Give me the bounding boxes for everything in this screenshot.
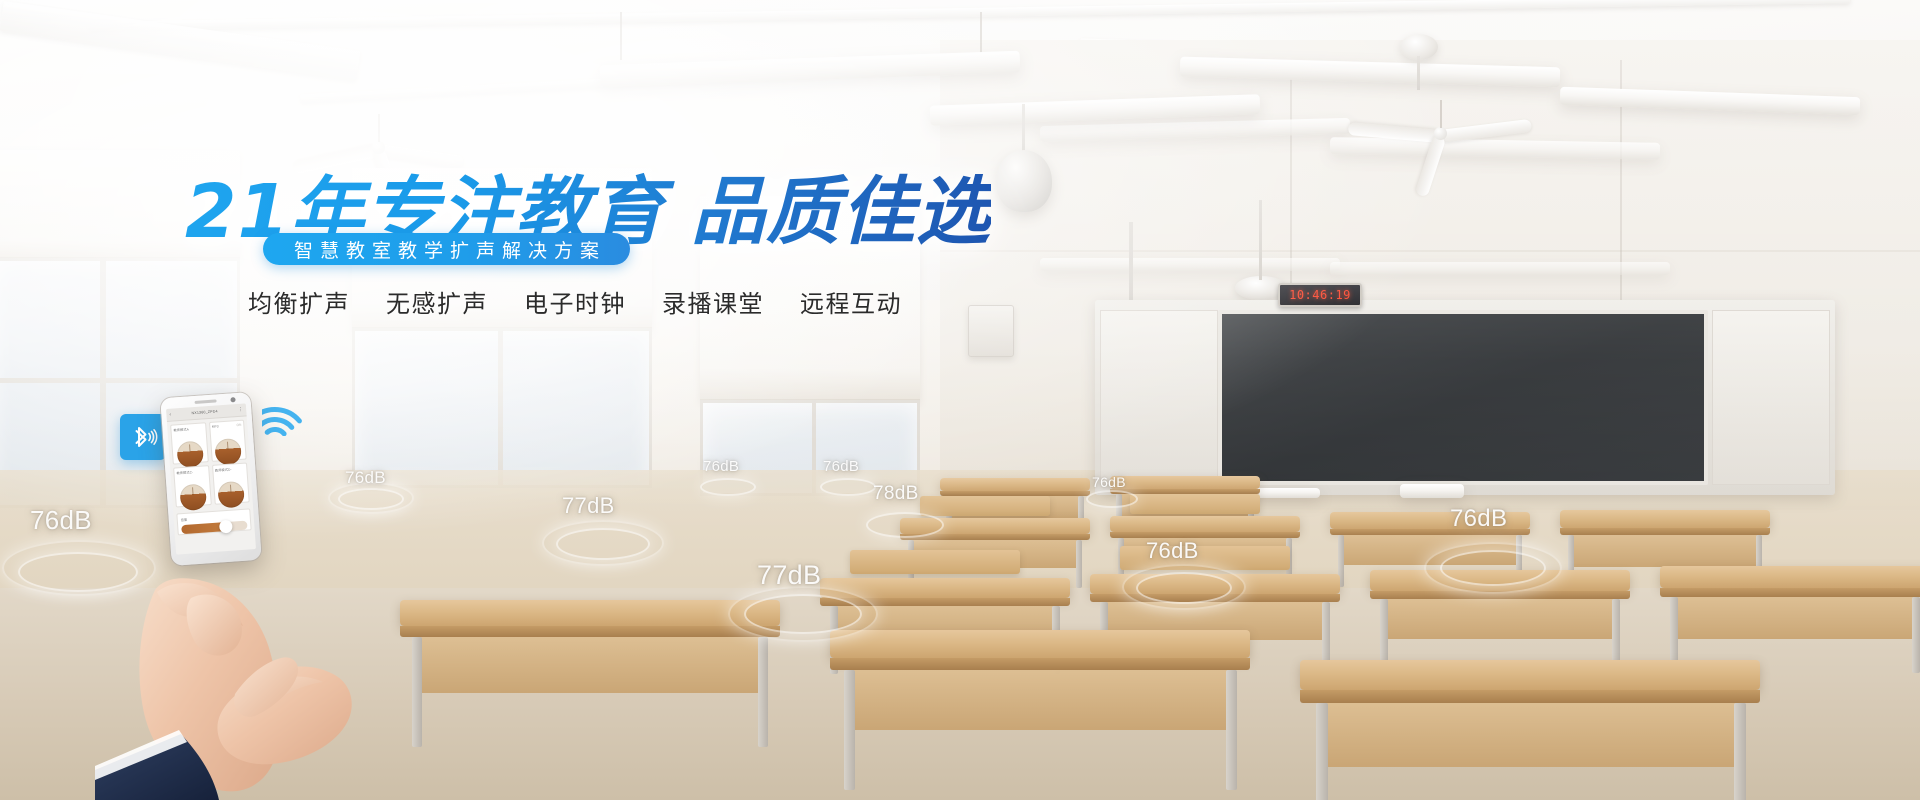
wall-seam <box>1290 60 1292 310</box>
wall-panel <box>1330 262 1670 275</box>
desk-top <box>1110 516 1300 532</box>
chair-back <box>1130 494 1260 514</box>
desk-edge <box>1560 528 1770 535</box>
db-label: 78dB <box>873 483 919 505</box>
db-label: 76dB <box>30 505 92 536</box>
fan-blade <box>1348 122 1441 143</box>
db-label: 76dB <box>345 468 386 488</box>
app-mode-card[interactable]: 教师模式D- <box>212 462 250 504</box>
subtitle-pill-label: 智慧教室教学扩声解决方案 <box>287 236 606 263</box>
desk-leg <box>844 670 855 790</box>
wireless-signal-icon <box>262 386 320 436</box>
desk-leg <box>1734 703 1746 800</box>
speaker-rod <box>1022 104 1025 156</box>
wall-panel <box>1040 258 1340 271</box>
sound-ripple <box>820 478 876 496</box>
control-panel <box>1400 484 1464 498</box>
bluetooth-badge[interactable] <box>120 414 166 460</box>
sound-ripple <box>542 520 664 566</box>
desk-leg <box>1912 597 1920 673</box>
app-mode-status: ON <box>236 423 241 427</box>
app-mode-label: 教师模式C- <box>176 468 206 475</box>
feature-item: 电子时钟 <box>524 284 626 319</box>
volume-knob[interactable] <box>218 481 246 509</box>
speaker-rod <box>1417 56 1420 90</box>
desk-top <box>830 630 1250 658</box>
sound-ripple <box>700 478 756 496</box>
desk-top <box>400 600 780 626</box>
sound-ripple <box>1122 564 1246 610</box>
chair-back <box>920 496 1050 516</box>
volume-knob[interactable] <box>176 441 204 469</box>
app-mode-card[interactable]: MP3ON <box>209 420 247 462</box>
db-label: 76dB <box>1450 505 1507 533</box>
desk-top <box>940 478 1090 491</box>
feature-item: 均衡扩声 <box>248 284 350 319</box>
smartphone[interactable]: ‹ NX1360_ZPD4 ⋮ 教师模式AMP3ON教师模式C-教师模式D- 音… <box>160 392 261 566</box>
desk-top <box>1110 476 1260 489</box>
pendant-wire <box>980 12 982 54</box>
ceiling-speaker <box>996 150 1052 212</box>
headline-second: 品质佳选 <box>691 170 991 253</box>
desk-top <box>1660 566 1920 588</box>
desk-panel <box>1384 599 1616 639</box>
db-label: 76dB <box>823 458 859 475</box>
volume-slider-track[interactable] <box>181 521 247 535</box>
sound-ripple <box>2 540 156 596</box>
db-label: 76dB <box>1092 474 1126 490</box>
window-mullion <box>498 328 503 488</box>
app-mode-label: 教师模式A <box>173 425 203 432</box>
fan-rod <box>1440 100 1442 128</box>
sound-ripple <box>728 586 878 642</box>
speaker-rod <box>1259 200 1262 280</box>
fan-rod <box>378 114 380 142</box>
app-card-grid: 教师模式AMP3ON教师模式C-教师模式D- <box>167 416 253 510</box>
wall-seam <box>940 250 1920 252</box>
desk-edge <box>830 658 1250 670</box>
blackboard-surface <box>1218 310 1708 485</box>
wall-control-box <box>968 305 1014 357</box>
feature-item: 无感扩声 <box>386 284 488 319</box>
phone-screen[interactable]: ‹ NX1360_ZPD4 ⋮ 教师模式AMP3ON教师模式C-教师模式D- 音… <box>166 403 256 554</box>
desk-panel <box>1674 597 1916 639</box>
phone-earpiece <box>195 399 217 404</box>
sound-ripple <box>866 512 944 538</box>
fan-hub <box>1434 127 1447 140</box>
app-mode-card[interactable]: 教师模式C- <box>173 465 211 507</box>
feature-list: 均衡扩声无感扩声电子时钟录播课堂远程互动 <box>248 284 902 319</box>
chair-back <box>850 550 1020 574</box>
blackboard-wing-right <box>1712 310 1830 485</box>
more-vertical-icon[interactable]: ⋮ <box>238 407 243 412</box>
bluetooth-icon <box>128 422 158 452</box>
db-label: 77dB <box>562 493 615 519</box>
desk-top <box>1560 510 1770 528</box>
desk-panel <box>850 670 1230 730</box>
feature-item: 远程互动 <box>800 284 902 319</box>
desk-leg <box>1076 540 1082 588</box>
db-label: 77dB <box>757 560 821 591</box>
desk-panel <box>418 637 762 693</box>
db-label: 76dB <box>1146 538 1199 564</box>
blackboard-wing-left <box>1100 310 1218 485</box>
app-mode-card[interactable]: 教师模式A <box>170 422 208 464</box>
desk-top <box>1300 660 1760 690</box>
sound-ripple <box>1424 542 1562 594</box>
sound-ripple <box>1086 490 1138 508</box>
volume-slider-card[interactable]: 音量 <box>176 508 251 535</box>
desk-edge <box>1660 588 1920 597</box>
pendant-wire <box>620 12 622 60</box>
digital-clock: 10:46:19 <box>1278 283 1362 307</box>
hero-banner: 10:46:19 <box>0 0 1920 800</box>
db-label: 76dB <box>703 458 739 475</box>
subtitle-pill: 智慧教室教学扩声解决方案 <box>263 233 630 265</box>
app-title: NX1360_ZPD4 <box>191 409 218 415</box>
desk-panel <box>1322 703 1738 767</box>
desk-leg <box>758 637 768 747</box>
volume-knob[interactable] <box>215 438 243 466</box>
volume-knob[interactable] <box>179 483 207 511</box>
app-mode-label: 教师模式D- <box>215 466 245 473</box>
phone-camera <box>230 397 235 402</box>
feature-item: 录播课堂 <box>662 284 764 319</box>
desk-leg <box>1316 703 1328 800</box>
desk-edge <box>400 626 780 637</box>
ceiling-fan <box>1340 108 1540 168</box>
clock-time: 10:46:19 <box>1289 288 1351 302</box>
chevron-left-icon[interactable]: ‹ <box>169 412 171 417</box>
window-mullion <box>0 378 240 383</box>
desk-edge <box>1300 690 1760 703</box>
fan-blade <box>1439 119 1532 143</box>
desk-leg <box>1226 670 1237 790</box>
desk-leg <box>412 637 422 747</box>
desk-panel <box>1570 535 1760 567</box>
